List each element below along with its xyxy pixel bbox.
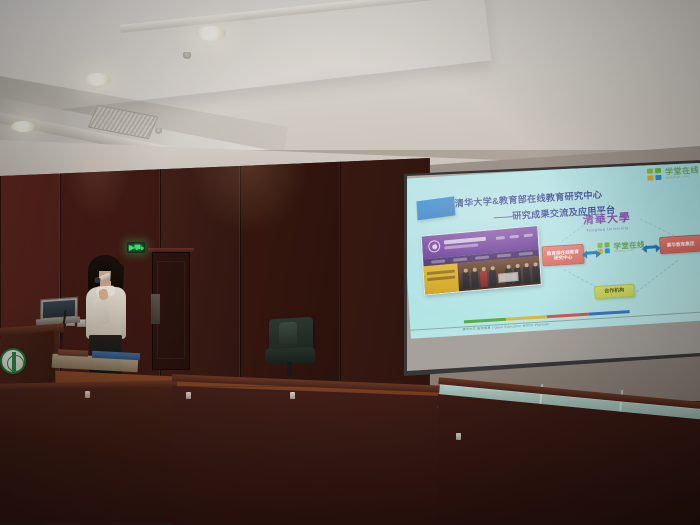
site-yellow-panel [423, 263, 459, 295]
cabinet-latch[interactable] [85, 391, 90, 398]
sprinkler-head [155, 128, 162, 134]
xuetangx-center-en: xuetangx.com [614, 248, 645, 253]
xuetangx-logo-topright: 学堂在线 xuetangx.com [647, 166, 700, 182]
diagram-box-muhua-group: 慕华教育集团 [659, 235, 700, 255]
cabinet-latch[interactable] [456, 433, 461, 440]
ceiling-downlight [84, 73, 111, 86]
lecture-hall-photo: ▶⛟ 学堂在线 xuetangx.com 清华大学&教育部在线教育研究中心 [0, 0, 700, 525]
website-screenshot-thumbnail [421, 225, 542, 295]
site-brand-subbar [444, 243, 478, 249]
ceiling-downlight [196, 26, 226, 41]
door-window [151, 294, 160, 324]
podium-emblem-icon [0, 348, 26, 374]
slide-title: 清华大学&教育部在线教育研究中心 ——研究成果交流及应用平台 [454, 182, 685, 226]
diagram-connector [636, 260, 678, 292]
exit-sign: ▶⛟ [127, 242, 145, 253]
counter-center [172, 384, 442, 525]
cabinet-latch[interactable] [186, 392, 191, 399]
site-logo-icon [428, 240, 441, 253]
ceiling-downlight [11, 121, 35, 132]
projected-slide-area: 学堂在线 xuetangx.com 清华大学&教育部在线教育研究中心 ——研究成… [407, 163, 700, 371]
site-nav-links [496, 233, 533, 239]
diagram-box-moe-center: 教育部在线教育研究中心 [541, 244, 584, 267]
chair-highlight [279, 322, 297, 349]
diagram-box-partners: 合作机构 [594, 284, 635, 299]
sprinkler-head [183, 52, 191, 59]
office-chair [265, 318, 317, 374]
door-panel-inset [157, 261, 185, 359]
laptop-screen [43, 300, 75, 318]
tsinghua-university-logo: 清華大學 Tsinghua University [571, 208, 642, 233]
exit-icon: ▶⛟ [129, 244, 143, 252]
counter-left [0, 386, 175, 522]
wall-light-reflection [189, 163, 311, 237]
site-group-photo [457, 256, 540, 291]
chair-stem [287, 362, 292, 376]
blue-accent-rectangle [416, 196, 455, 220]
wall-light-reflection [62, 160, 132, 220]
cabinet-latch[interactable] [290, 392, 295, 399]
site-photo-banner [498, 272, 518, 283]
site-brand-bar [444, 237, 486, 245]
xuetangx-squares-icon [647, 168, 663, 182]
presentation-slide: 学堂在线 xuetangx.com 清华大学&教育部在线教育研究中心 ——研究成… [407, 163, 700, 339]
xuetangx-logo-center: 学堂在线 xuetangx.com [597, 240, 645, 255]
slide-footer-rule [410, 310, 700, 330]
diagram-arrow-left [586, 251, 597, 255]
diagram-arrow-right [646, 245, 657, 249]
